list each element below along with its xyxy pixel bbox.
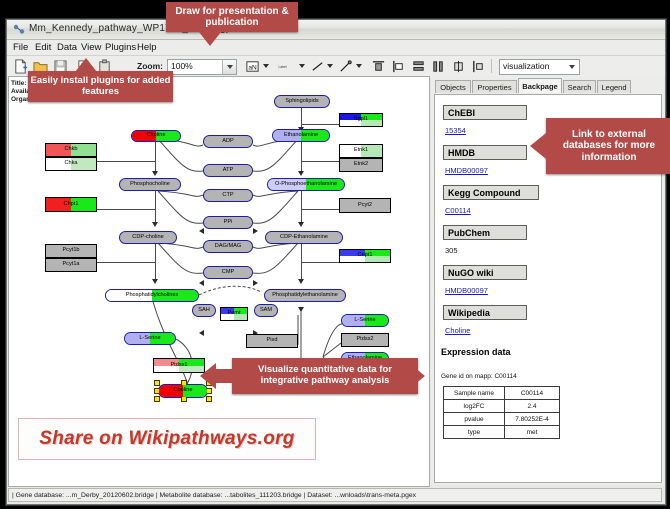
anchor-line-icon[interactable]	[338, 59, 353, 74]
db-link-chebi[interactable]: 15354	[445, 126, 466, 135]
screenshot-root: Mm_Kennedy_pathway_WP1771_45176.gpml Fil…	[0, 0, 670, 509]
node-pcyt1a[interactable]: Pcyt1a	[45, 258, 97, 272]
cell-label: pvalue	[444, 413, 505, 426]
cell-value: met	[505, 426, 560, 439]
node-sgpl1[interactable]: Sgpl1	[339, 113, 383, 127]
node-label: L-Serine	[139, 336, 160, 342]
share-wikipathways-banner: Share on Wikipathways.org	[18, 418, 316, 460]
tab-search[interactable]: Search	[563, 80, 596, 93]
arrow-to-ptdcholines	[152, 279, 158, 284]
node-label: Sgpl1	[354, 117, 368, 123]
node-ethanolamine-top[interactable]: Ethanolamine	[272, 129, 330, 142]
node-l-serine-left[interactable]: L-Serine	[124, 332, 176, 345]
canvas-info-title: Title:	[11, 80, 26, 87]
align-columns-icon[interactable]	[431, 59, 446, 74]
arrow-to-cdpcholine	[152, 222, 158, 227]
node-atp[interactable]: ATP	[203, 164, 253, 177]
node-pcyt1b[interactable]: Pcyt1b	[45, 244, 97, 258]
db-link-nugo[interactable]: HMDB00097	[445, 286, 488, 295]
node-phosphatidylethanolamine[interactable]: Phosphatidylethanolamine	[264, 289, 346, 302]
callout-draw-pointer	[199, 32, 221, 46]
cell-value: 2.4	[505, 400, 560, 413]
db-header-nugo: NuGO wiki	[443, 265, 527, 280]
zoom-combo[interactable]: 100%	[167, 59, 237, 75]
callout-visualize-data: Visualize quantitative data for integrat…	[232, 358, 418, 394]
align-top-icon[interactable]	[371, 59, 386, 74]
table-row: type met	[444, 426, 560, 439]
node-label: Pcyt2	[358, 203, 372, 209]
title-bar: Mm_Kennedy_pathway_WP1771_45176.gpml	[7, 20, 665, 40]
arrow-to-ptdeth-up	[298, 307, 304, 312]
edge-cept1-connector	[301, 262, 339, 263]
stack-left-icon[interactable]	[471, 59, 486, 74]
edge-sgpl1-connector	[301, 124, 339, 125]
menu-item-help[interactable]: Help	[137, 42, 157, 53]
tab-properties[interactable]: Properties	[472, 80, 517, 93]
node-label: Chpt1	[64, 202, 79, 208]
arrow-to-ptdethanolamine	[298, 279, 304, 284]
node-etnk1[interactable]: Etnk1	[339, 144, 383, 158]
callout-draw-for-publication: Draw for presentation & publication	[166, 2, 298, 32]
node-label: Pcyt1a	[62, 262, 79, 268]
node-label: Choline	[147, 133, 166, 139]
chevron-down-icon	[227, 65, 233, 69]
arrow-ppi-left	[199, 280, 204, 286]
tab-legend[interactable]: Legend	[597, 80, 631, 93]
node-label: Phosphocholine	[130, 182, 170, 188]
callout-link-external-db: Link to external databases for more info…	[546, 118, 670, 174]
cell-label: Sample name	[444, 387, 505, 400]
menu-item-data[interactable]: Data	[57, 42, 77, 53]
edge-cdpcholine-spine	[155, 238, 156, 280]
node-label: Choline	[174, 388, 193, 394]
node-o-phosphoethanolamine[interactable]: O-Phosphoethanolamine	[267, 178, 345, 191]
node-label: Pcyt1b	[62, 248, 79, 254]
data-node-dropdown-icon[interactable]	[263, 64, 269, 68]
edge-etnk-connector	[301, 161, 339, 162]
db-value-pubchem: 305	[445, 246, 458, 255]
visualization-value: visualization	[503, 61, 549, 71]
menu-item-edit[interactable]: Edit	[35, 42, 51, 53]
callout-install-plugins: Easily install plugins for added feature…	[28, 71, 173, 102]
edge-cdpeth-spine	[301, 238, 302, 280]
node-chpt1[interactable]: Chpt1	[45, 197, 97, 212]
node-label: ATP	[223, 168, 233, 174]
node-cept1[interactable]: Cept1	[339, 249, 391, 263]
edge-pcyt1-connector	[97, 262, 155, 263]
node-label: SAM	[260, 308, 272, 314]
label-dropdown-icon[interactable]	[299, 64, 305, 68]
node-label: Ptdss2	[356, 337, 373, 343]
expression-data-heading: Expression data	[441, 347, 511, 357]
db-header-wikipedia: Wikipedia	[443, 305, 527, 320]
line-icon[interactable]	[310, 59, 325, 74]
node-choline-top[interactable]: Choline	[131, 130, 181, 142]
table-row: log2FC 2.4	[444, 400, 560, 413]
node-adp[interactable]: ADP	[203, 135, 253, 148]
callout-plugins-stem	[80, 68, 92, 73]
arrow-cmp-left	[199, 330, 204, 336]
cell-label: type	[444, 426, 505, 439]
menu-item-view[interactable]: View	[81, 42, 101, 53]
gene-id-on-mapp: Gene id on mapp: C00114	[441, 373, 517, 380]
node-l-serine-right[interactable]: L-Serine	[341, 314, 389, 327]
callout-link-stem	[540, 139, 548, 153]
visualization-combo[interactable]: visualization	[499, 59, 580, 75]
callout-visualize-pointer-right	[409, 363, 425, 389]
node-label: DAG/MAG	[215, 244, 241, 250]
node-cmp[interactable]: CMP	[203, 266, 253, 279]
arrow-to-phosphocholine	[152, 171, 158, 176]
node-label: Phosphatidylcholines	[126, 293, 179, 299]
db-link-wikipedia[interactable]: Choline	[445, 326, 470, 335]
node-ptdss2[interactable]: Ptdss2	[341, 333, 389, 347]
node-label: ADP	[222, 139, 234, 145]
arrow-atp-left	[199, 228, 204, 234]
line-dropdown-icon[interactable]	[327, 64, 333, 68]
svg-text:aN: aN	[248, 64, 257, 71]
db-header-hmdb: HMDB	[443, 145, 527, 160]
menu-item-file[interactable]: File	[13, 42, 28, 53]
align-left-icon[interactable]	[391, 59, 406, 74]
callout-visualize-stem-left	[214, 369, 234, 383]
node-label: CDP-Ethanolamine	[280, 235, 328, 241]
node-phosphocholine[interactable]: Phosphocholine	[119, 178, 181, 191]
menu-bar: File Edit Data View Plugins Help	[7, 40, 665, 56]
edge-chpt1-connector	[97, 209, 155, 210]
node-pemt[interactable]: Pemt	[220, 307, 248, 321]
node-label: Chka	[64, 161, 77, 167]
tab-objects[interactable]: Objects	[435, 80, 471, 93]
node-label: Chkb	[64, 147, 77, 153]
menu-item-plugins[interactable]: Plugins	[105, 42, 136, 53]
node-sah[interactable]: SAH	[192, 304, 216, 317]
zoom-label: Zoom:	[137, 61, 163, 71]
pathvisio-icon	[13, 24, 25, 35]
svg-text:Label: Label	[279, 65, 287, 69]
db-link-hmdb[interactable]: HMDB00097	[445, 166, 488, 175]
node-label: O-Phosphoethanolamine	[275, 182, 337, 188]
arrow-to-cdpethanolamine	[298, 222, 304, 227]
expression-table: Sample name C00114 log2FC 2.4 pvalue 7.8…	[443, 386, 560, 439]
callout-draw-stem	[204, 30, 216, 34]
node-dag-mag[interactable]: DAG/MAG	[203, 240, 253, 253]
node-label: CDP-choline	[132, 235, 163, 241]
edge-chk-connector	[97, 161, 155, 162]
zoom-value: 100%	[171, 61, 193, 71]
node-label: Ptdss1	[170, 363, 187, 369]
node-label: Ethanolamine	[284, 133, 318, 139]
db-link-kegg[interactable]: C00114	[445, 206, 471, 215]
node-ppi[interactable]: PPi	[203, 216, 253, 229]
node-cdp-ethanolamine[interactable]: CDP-Ethanolamine	[265, 231, 343, 244]
node-label: L-Serine	[354, 318, 375, 324]
stack-center-icon[interactable]	[451, 59, 466, 74]
node-pisd[interactable]: Pisd	[246, 334, 298, 348]
status-bar-text: | Gene database: ...m_Derby_20120602.bri…	[12, 492, 416, 499]
cell-value: 7.80252E-4	[505, 413, 560, 426]
db-header-pubchem: PubChem	[443, 225, 527, 240]
node-label: Pemt	[227, 311, 240, 317]
table-row: pvalue 7.80252E-4	[444, 413, 560, 426]
cell-value: C00114	[505, 387, 560, 400]
tab-backpage[interactable]: Backpage	[518, 78, 562, 93]
arrow-atp-right	[253, 228, 258, 234]
node-label: Etnk2	[354, 162, 368, 168]
table-row: Sample name C00114	[444, 387, 560, 400]
label-icon[interactable]: Label	[275, 59, 290, 74]
node-label: Etnk1	[354, 148, 368, 154]
node-phosphatidylcholines[interactable]: Phosphatidylcholines	[105, 289, 199, 302]
node-label: Pisd	[267, 338, 278, 344]
db-header-chebi: ChEBI	[443, 105, 527, 120]
node-label: Phosphatidylethanolamine	[272, 293, 338, 299]
share-wikipathways-text: Share on Wikipathways.org	[39, 428, 294, 450]
db-header-kegg: Kegg Compound	[443, 185, 539, 200]
data-node-icon[interactable]: aN	[245, 59, 260, 74]
node-label: SAH	[198, 308, 210, 314]
status-bar: | Gene database: ...m_Derby_20120602.bri…	[8, 488, 662, 502]
arrow-to-ophospho	[298, 171, 304, 176]
node-label: PPi	[224, 220, 233, 226]
node-sam[interactable]: SAM	[254, 304, 278, 317]
node-etnk2[interactable]: Etnk2	[339, 158, 383, 172]
cell-label: log2FC	[444, 400, 505, 413]
node-ctp[interactable]: CTP	[203, 189, 253, 202]
node-label: CTP	[222, 193, 233, 199]
node-label: Cept1	[358, 253, 373, 259]
node-label: Sphingolipids	[285, 99, 318, 105]
anchor-line-dropdown-icon[interactable]	[356, 64, 362, 68]
node-pcyt2[interactable]: Pcyt2	[339, 198, 391, 213]
node-chkb[interactable]: Chkb	[45, 143, 97, 157]
align-rows-icon[interactable]	[411, 59, 426, 74]
arrow-ppi-right	[253, 280, 258, 286]
edge-pcyt2-connector	[301, 209, 339, 210]
node-sphingolipids[interactable]: Sphingolipids	[274, 95, 330, 108]
side-panel-tabs: Objects Properties Backpage Search Legen…	[433, 78, 662, 93]
node-cdp-choline[interactable]: CDP-choline	[119, 231, 177, 244]
node-ptdss1[interactable]: Ptdss1	[153, 358, 205, 373]
new-file-icon[interactable]	[13, 59, 28, 74]
node-chka[interactable]: Chka	[45, 157, 97, 171]
chevron-down-icon-2[interactable]	[569, 65, 575, 69]
node-label: CMP	[222, 270, 234, 276]
